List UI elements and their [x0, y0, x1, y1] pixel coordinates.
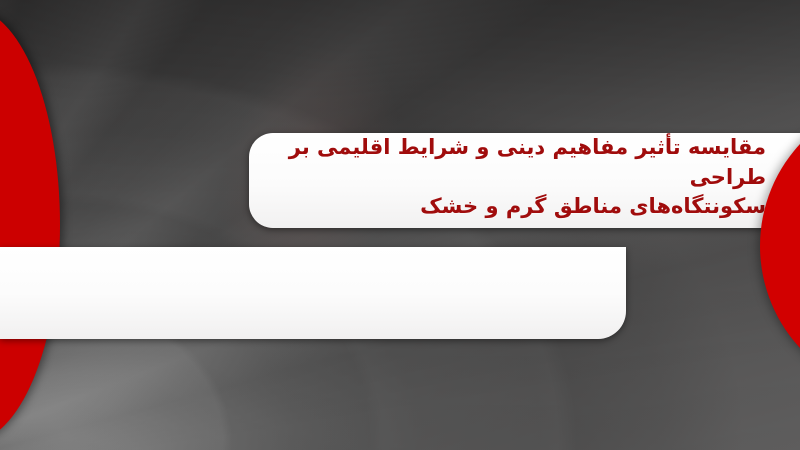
slide-canvas: مقایسه تأثیر مفاهیم دینی و شرایط اقلیمی … [0, 0, 800, 450]
subtitle-placeholder[interactable] [0, 247, 626, 339]
title-placeholder[interactable]: مقایسه تأثیر مفاهیم دینی و شرایط اقلیمی … [249, 133, 800, 228]
slide-title-text: مقایسه تأثیر مفاهیم دینی و شرایط اقلیمی … [261, 133, 766, 222]
